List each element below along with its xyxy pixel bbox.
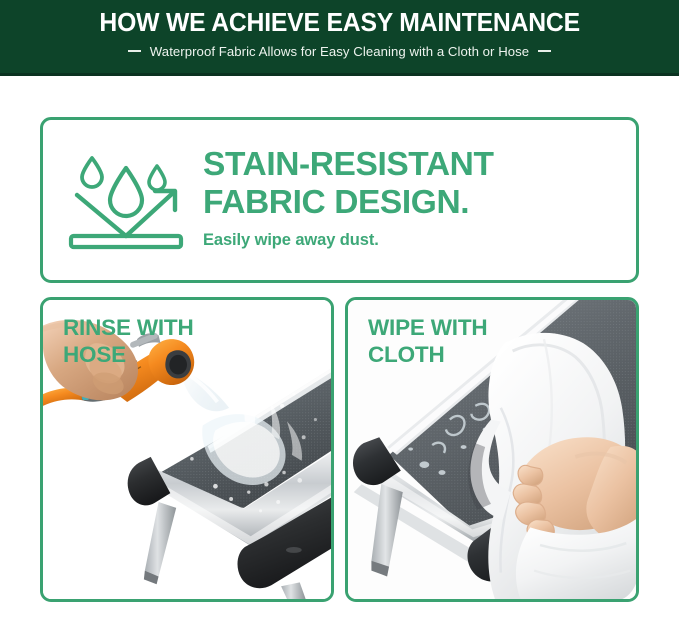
hero-subheading: Easily wipe away dust. <box>203 231 494 250</box>
wipe-photo <box>348 300 636 599</box>
page-header: HOW WE ACHIEVE EASY MAINTENANCE Waterpro… <box>0 0 679 76</box>
water-repellent-icon <box>65 148 193 252</box>
dash-left-icon <box>128 50 141 52</box>
subtitle-row: Waterproof Fabric Allows for Easy Cleani… <box>128 44 551 59</box>
hero-heading-line1: STAIN-RESISTANT <box>203 146 494 184</box>
page-subtitle: Waterproof Fabric Allows for Easy Cleani… <box>150 44 529 59</box>
rinse-photo <box>43 300 331 599</box>
feature-cards-row: RINSE WITH HOSE <box>40 297 639 602</box>
page-title: HOW WE ACHIEVE EASY MAINTENANCE <box>99 9 579 38</box>
wipe-with-cloth-card: WIPE WITH CLOTH <box>345 297 639 602</box>
dash-right-icon <box>538 50 551 52</box>
rinse-with-hose-card: RINSE WITH HOSE <box>40 297 334 602</box>
content-area: STAIN-RESISTANT FABRIC DESIGN. Easily wi… <box>0 117 679 602</box>
hero-text-block: STAIN-RESISTANT FABRIC DESIGN. Easily wi… <box>203 146 494 254</box>
hero-heading-line2: FABRIC DESIGN. <box>203 184 494 222</box>
stain-resistant-card: STAIN-RESISTANT FABRIC DESIGN. Easily wi… <box>40 117 639 283</box>
